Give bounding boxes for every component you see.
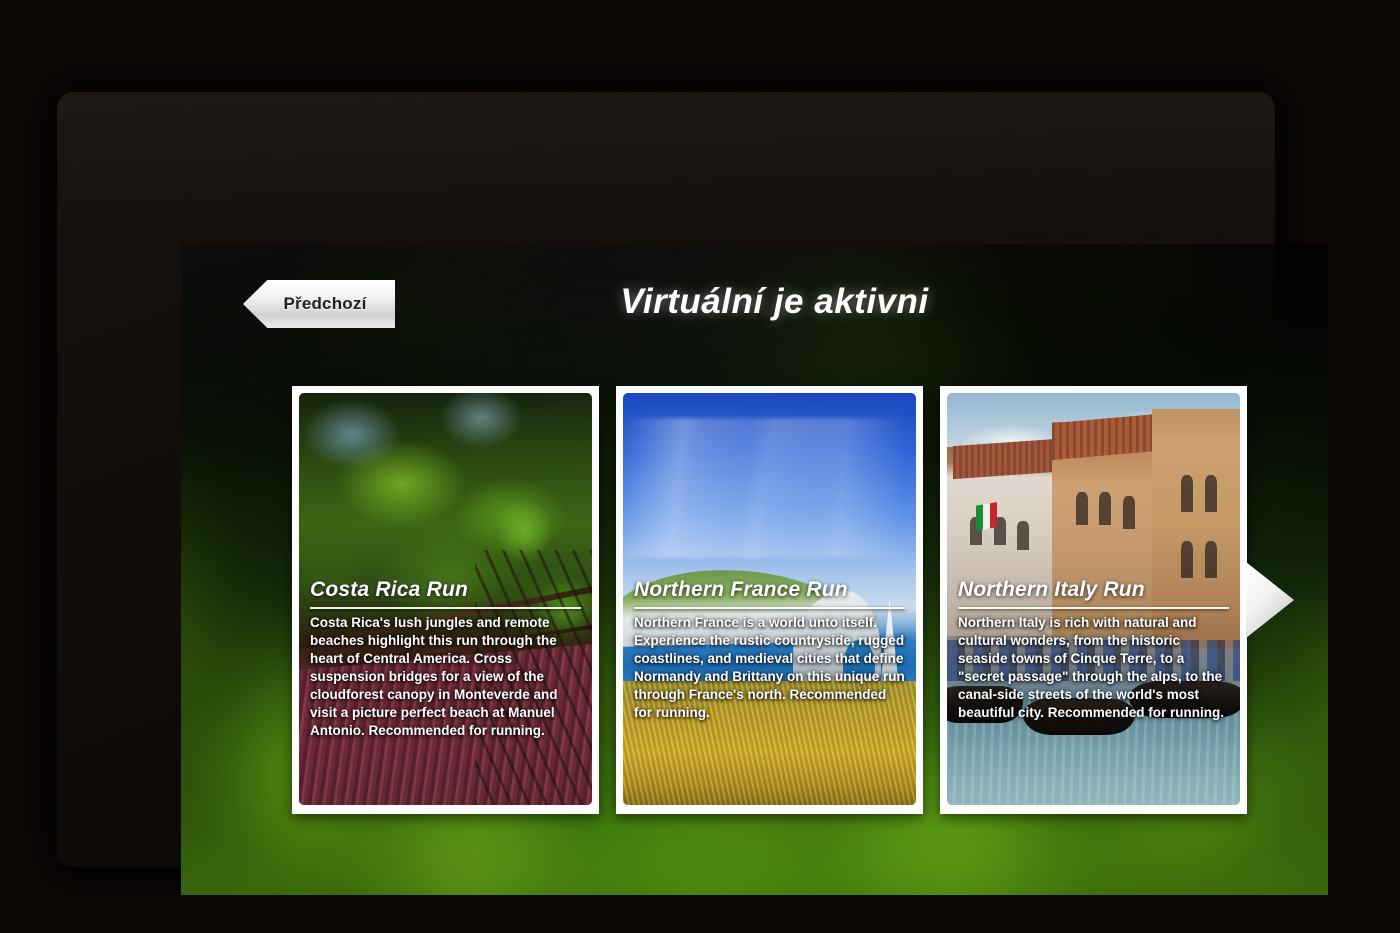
window-shape bbox=[1181, 475, 1193, 512]
window-shape bbox=[1205, 541, 1217, 578]
costa-rica-photo: Costa Rica Run Costa Rica's lush jungles… bbox=[299, 393, 592, 805]
window-shape bbox=[1099, 492, 1111, 525]
card-title: Northern Italy Run bbox=[958, 579, 1229, 601]
photographed-monitor-scene: Předchozí Virtuální je aktivni bbox=[0, 0, 1400, 933]
northern-italy-caption: Northern Italy Run Northern Italy is ric… bbox=[947, 579, 1240, 722]
title-divider bbox=[310, 607, 581, 609]
window-shape bbox=[1181, 541, 1193, 578]
window-shape bbox=[1076, 492, 1088, 525]
page-title: Virtuální je aktivni bbox=[181, 282, 1328, 322]
card-body: Costa Rica's lush jungles and remote bea… bbox=[310, 614, 581, 740]
display-screen: Předchozí Virtuální je aktivni bbox=[181, 244, 1328, 895]
run-card-costa-rica[interactable]: Costa Rica Run Costa Rica's lush jungles… bbox=[292, 386, 599, 814]
cirrus-clouds-shape bbox=[623, 418, 916, 558]
card-title: Costa Rica Run bbox=[310, 579, 581, 601]
card-title: Northern France Run bbox=[634, 579, 905, 601]
card-body: Northern Italy is rich with natural and … bbox=[958, 614, 1229, 722]
northern-france-photo: Northern France Run Northern France is a… bbox=[623, 393, 916, 805]
window-shape bbox=[1017, 521, 1029, 550]
run-card-list: Costa Rica Run Costa Rica's lush jungles… bbox=[292, 386, 1247, 814]
title-divider bbox=[958, 607, 1229, 609]
run-card-northern-france[interactable]: Northern France Run Northern France is a… bbox=[616, 386, 923, 814]
card-body: Northern France is a world unto itself. … bbox=[634, 614, 905, 722]
costa-rica-caption: Costa Rica Run Costa Rica's lush jungles… bbox=[299, 579, 592, 740]
northern-france-caption: Northern France Run Northern France is a… bbox=[623, 579, 916, 722]
title-divider bbox=[634, 607, 905, 609]
run-card-northern-italy[interactable]: Northern Italy Run Northern Italy is ric… bbox=[940, 386, 1247, 814]
window-shape bbox=[1123, 496, 1135, 529]
window-shape bbox=[1205, 475, 1217, 512]
italian-flag-shape bbox=[976, 502, 997, 530]
northern-italy-photo: Northern Italy Run Northern Italy is ric… bbox=[947, 393, 1240, 805]
monitor-bezel: Předchozí Virtuální je aktivni bbox=[57, 92, 1275, 867]
